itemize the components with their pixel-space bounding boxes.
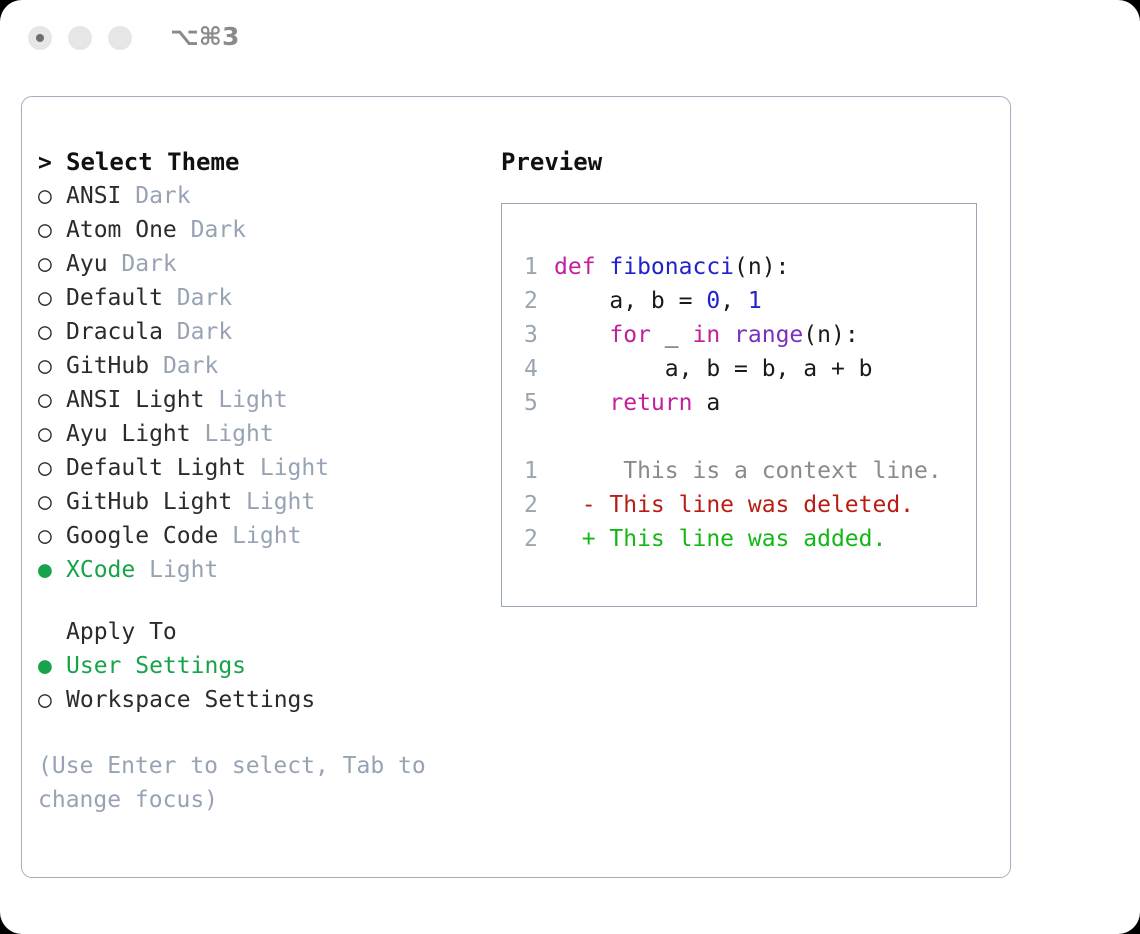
theme-list-item[interactable]: ○Google Code Light — [38, 519, 478, 553]
theme-variant-badge: Dark — [163, 319, 232, 345]
code-token: 0 — [706, 288, 720, 314]
apply-to-list: ●User Settings○Workspace Settings — [38, 649, 478, 717]
code-token: (n): — [734, 254, 789, 280]
theme-variant-badge: Light — [204, 387, 287, 413]
theme-name: ANSI — [66, 183, 121, 209]
code-line-number: 4 — [524, 352, 554, 386]
preview-code-panel: 1def fibonacci(n):2 a, b = 0, 13 for _ i… — [501, 203, 977, 607]
theme-variant-badge: Dark — [108, 251, 177, 277]
theme-list-item[interactable]: ○Dracula Dark — [38, 315, 478, 349]
diff-text: This is a context line. — [596, 458, 942, 484]
theme-list-item[interactable]: ○ANSI Light Light — [38, 383, 478, 417]
code-token: a, b = b, a + b — [554, 356, 873, 382]
diff-line-number: 2 — [524, 488, 554, 522]
diff-line-number: 2 — [524, 522, 554, 556]
code-line: 1def fibonacci(n): — [524, 250, 970, 284]
code-token: in — [692, 322, 720, 348]
theme-variant-badge: Light — [191, 421, 274, 447]
radio-unselected-icon: ○ — [38, 247, 66, 281]
theme-list-item[interactable]: ○Default Light Light — [38, 451, 478, 485]
diff-line-number: 1 — [524, 454, 554, 488]
dialog-panel: >Select Theme ○ANSI Dark○Atom One Dark○A… — [21, 96, 1011, 878]
radio-unselected-icon: ○ — [38, 519, 66, 553]
theme-list-item[interactable]: ○Default Dark — [38, 281, 478, 315]
code-token: a — [692, 390, 720, 416]
code-token: , — [720, 288, 748, 314]
radio-unselected-icon: ○ — [38, 315, 66, 349]
preview-column: Preview 1def fibonacci(n):2 a, b = 0, 13… — [501, 145, 991, 607]
diff-text: This line was added. — [596, 526, 887, 552]
theme-list-item[interactable]: ○Ayu Dark — [38, 247, 478, 281]
code-token: fibonacci — [609, 254, 734, 280]
radio-selected-icon: ● — [38, 553, 66, 587]
diff-line: 1 This is a context line. — [524, 454, 970, 488]
theme-variant-badge: Dark — [177, 217, 246, 243]
theme-name: GitHub — [66, 353, 149, 379]
preview-code-content: 1def fibonacci(n):2 a, b = 0, 13 for _ i… — [524, 250, 970, 556]
code-token: _ — [651, 322, 693, 348]
radio-unselected-icon: ○ — [38, 417, 66, 451]
code-token: (n): — [803, 322, 858, 348]
diff-marker: + — [554, 526, 596, 552]
theme-name: Dracula — [66, 319, 163, 345]
theme-list-item[interactable]: ○ANSI Dark — [38, 179, 478, 213]
code-line-number: 3 — [524, 318, 554, 352]
apply-to-item[interactable]: ○Workspace Settings — [38, 683, 478, 717]
theme-variant-badge: Dark — [121, 183, 190, 209]
theme-name: GitHub Light — [66, 489, 232, 515]
code-line: 2 a, b = 0, 1 — [524, 284, 970, 318]
theme-list: ○ANSI Dark○Atom One Dark○Ayu Dark○Defaul… — [38, 179, 478, 587]
code-token: return — [609, 390, 692, 416]
code-token — [554, 390, 609, 416]
radio-unselected-icon: ○ — [38, 213, 66, 247]
theme-name: Ayu — [66, 251, 108, 277]
radio-unselected-icon: ○ — [38, 349, 66, 383]
code-token: def — [554, 254, 609, 280]
radio-unselected-icon: ○ — [38, 485, 66, 519]
theme-list-item[interactable]: ○GitHub Dark — [38, 349, 478, 383]
apply-to-heading: ○Apply To — [38, 615, 478, 649]
apply-to-item[interactable]: ●User Settings — [38, 649, 478, 683]
apply-to-label: Workspace Settings — [66, 687, 315, 713]
code-token — [720, 322, 734, 348]
title-bar: ⌥⌘3 — [0, 0, 1140, 78]
theme-list-item[interactable]: ○GitHub Light Light — [38, 485, 478, 519]
code-token: a, b = — [554, 288, 706, 314]
code-token — [554, 322, 609, 348]
radio-unselected-icon: ○ — [38, 179, 66, 213]
code-token: for — [609, 322, 651, 348]
window-dot-active-inner — [36, 34, 44, 42]
window-dot-3[interactable] — [108, 26, 132, 50]
code-line: 4 a, b = b, a + b — [524, 352, 970, 386]
theme-variant-badge: Light — [135, 557, 218, 583]
theme-variant-badge: Light — [218, 523, 301, 549]
theme-name: Default — [66, 285, 163, 311]
prompt-caret-icon: > — [38, 146, 66, 180]
keyboard-hint: (Use Enter to select, Tab to change focu… — [38, 749, 448, 817]
radio-selected-icon: ● — [38, 649, 66, 683]
theme-list-item[interactable]: ○Ayu Light Light — [38, 417, 478, 451]
theme-name: Atom One — [66, 217, 177, 243]
code-line-number: 1 — [524, 250, 554, 284]
code-token: range — [734, 322, 803, 348]
radio-unselected-icon: ○ — [38, 383, 66, 417]
window-dot-2[interactable] — [68, 26, 92, 50]
theme-name: Google Code — [66, 523, 218, 549]
theme-name: Default Light — [66, 455, 246, 481]
theme-variant-badge: Light — [246, 455, 329, 481]
theme-list-item[interactable]: ○Atom One Dark — [38, 213, 478, 247]
theme-name: Ayu Light — [66, 421, 191, 447]
diff-text: This line was deleted. — [596, 492, 915, 518]
theme-name: ANSI Light — [66, 387, 204, 413]
apply-to-heading-spacer: ○ — [38, 615, 66, 649]
theme-variant-badge: Dark — [149, 353, 218, 379]
radio-unselected-icon: ○ — [38, 683, 66, 717]
diff-marker — [554, 458, 596, 484]
code-line-number: 5 — [524, 386, 554, 420]
radio-unselected-icon: ○ — [38, 281, 66, 315]
theme-picker-column: >Select Theme ○ANSI Dark○Atom One Dark○A… — [38, 145, 478, 817]
theme-list-item[interactable]: ●XCode Light — [38, 553, 478, 587]
code-line: 5 return a — [524, 386, 970, 420]
diff-line: 2 + This line was added. — [524, 522, 970, 556]
diff-line: 2 - This line was deleted. — [524, 488, 970, 522]
radio-unselected-icon: ○ — [38, 451, 66, 485]
code-diff-separator — [524, 420, 970, 454]
code-token: 1 — [748, 288, 762, 314]
window-dot-active[interactable] — [28, 26, 52, 50]
code-line-number: 2 — [524, 284, 554, 318]
apply-to-section: ○Apply To ●User Settings○Workspace Setti… — [38, 615, 478, 717]
app-window: ⌥⌘3 >Select Theme ○ANSI Dark○Atom One Da… — [0, 0, 1140, 934]
theme-name: XCode — [66, 557, 135, 583]
apply-to-label: User Settings — [66, 653, 246, 679]
theme-variant-badge: Light — [232, 489, 315, 515]
diff-marker: - — [554, 492, 596, 518]
apply-to-heading-label: Apply To — [66, 619, 177, 645]
preview-title: Preview — [501, 145, 991, 179]
code-line: 3 for _ in range(n): — [524, 318, 970, 352]
theme-variant-badge: Dark — [163, 285, 232, 311]
select-theme-heading: >Select Theme — [38, 145, 478, 179]
keyboard-shortcut-label: ⌥⌘3 — [170, 22, 239, 51]
select-theme-heading-label: Select Theme — [66, 148, 239, 176]
